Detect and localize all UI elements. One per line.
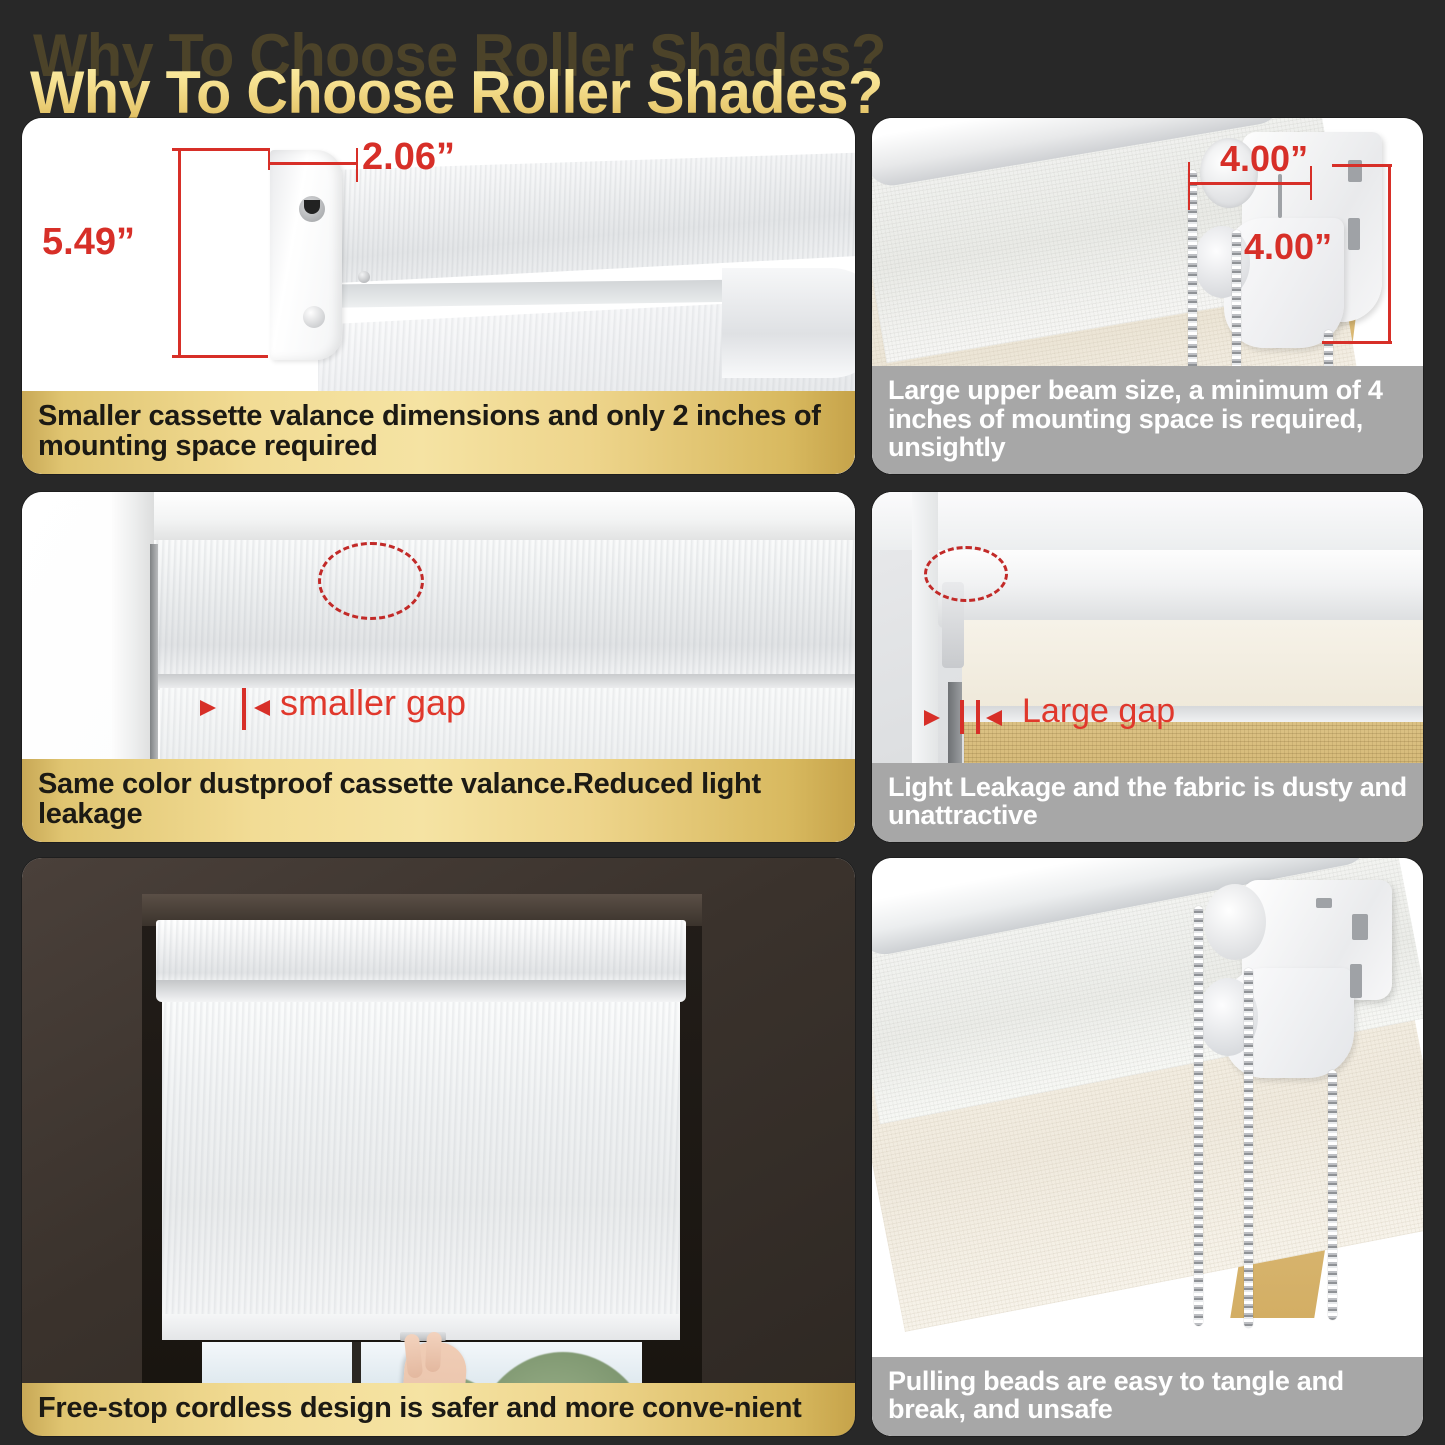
- dim-tick-left: [268, 148, 270, 170]
- dimension-label-height: 4.00”: [1244, 226, 1332, 268]
- highlight-ellipse-icon: [318, 542, 424, 620]
- panel-con-light-leakage[interactable]: Large gap Light Leakage and the fabric i…: [872, 492, 1423, 842]
- dim-tick-bottom: [172, 355, 268, 358]
- gap-callout-label: smaller gap: [280, 682, 466, 724]
- arrow-right-icon: [924, 710, 940, 726]
- photo-pulling-beads: [872, 858, 1423, 1436]
- caption-pro-cordless-design: Free-stop cordless design is safer and m…: [22, 1383, 855, 1436]
- caption-pro-cassette-size: Smaller cassette valance dimensions and …: [22, 391, 855, 474]
- dim-tick-right: [356, 148, 358, 182]
- caption-pro-dustproof-valance: Same color dustproof cassette valance.Re…: [22, 759, 855, 842]
- dim-tick-top: [1332, 164, 1392, 167]
- panel-pro-cassette-size[interactable]: 2.06” 5.49” Smaller cassette valance dim…: [22, 118, 855, 474]
- dim-line-height: [178, 148, 181, 358]
- panel-pro-dustproof-valance[interactable]: smaller gap Same color dustproof cassett…: [22, 492, 855, 842]
- dimension-label-width: 4.00”: [1220, 138, 1308, 180]
- comparison-grid: 2.06” 5.49” Smaller cassette valance dim…: [0, 112, 1445, 1445]
- gap-marker: [242, 688, 246, 730]
- dim-line-width: [1188, 182, 1312, 185]
- panel-con-upper-beam-size[interactable]: 4.00” 4.00” Large upper beam size, a min…: [872, 118, 1423, 474]
- gap-marker-b: [976, 700, 980, 734]
- gap-marker-a: [960, 700, 964, 734]
- dim-tick-left: [1188, 162, 1190, 210]
- photo-cordless-shade-window: [22, 858, 855, 1436]
- dim-tick-top: [172, 148, 268, 151]
- arrow-left-icon: [986, 710, 1002, 726]
- caption-con-pulling-beads: Pulling beads are easy to tangle and bre…: [872, 1357, 1423, 1436]
- caption-con-light-leakage: Light Leakage and the fabric is dusty an…: [872, 763, 1423, 842]
- dimension-label-width: 2.06”: [362, 136, 455, 179]
- panel-pro-cordless-design[interactable]: Free-stop cordless design is safer and m…: [22, 858, 855, 1436]
- arrow-right-icon: [200, 700, 216, 716]
- dim-line-width: [268, 162, 358, 165]
- caption-con-upper-beam-size: Large upper beam size, a minimum of 4 in…: [872, 366, 1423, 474]
- gap-callout-label: Large gap: [1022, 692, 1175, 731]
- dim-tick-bottom: [1322, 341, 1392, 344]
- dimension-label-height: 5.49”: [42, 221, 135, 264]
- dim-line-height: [1388, 164, 1391, 344]
- highlight-ellipse-icon: [924, 546, 1008, 602]
- title-bar: Why To Choose Roller Shades? Why To Choo…: [0, 0, 1445, 112]
- arrow-left-icon: [254, 700, 270, 716]
- panel-con-pulling-beads[interactable]: Pulling beads are easy to tangle and bre…: [872, 858, 1423, 1436]
